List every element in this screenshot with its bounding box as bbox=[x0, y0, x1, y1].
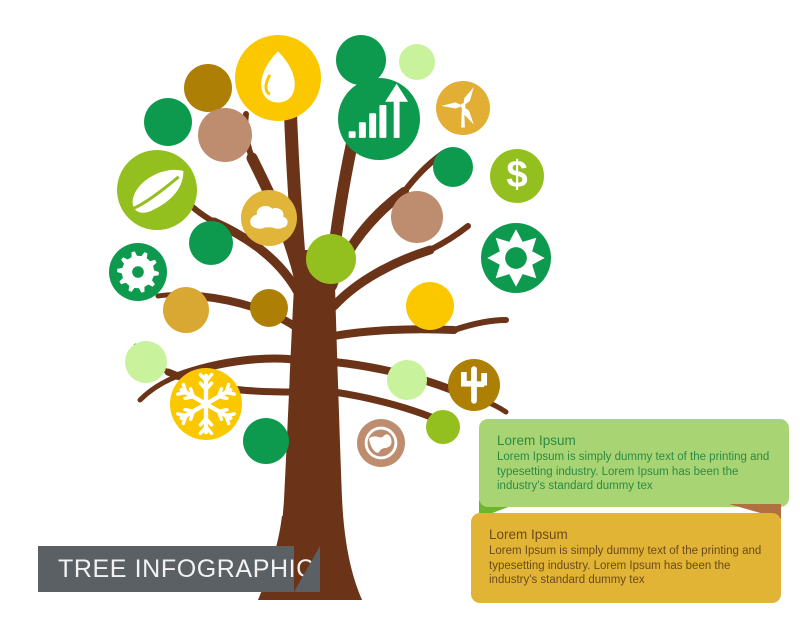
icon-water-drop[interactable] bbox=[235, 35, 321, 121]
circle-plain-green-mid bbox=[189, 221, 233, 265]
circle-plain-olive-2 bbox=[426, 410, 460, 444]
callout-green[interactable]: Lorem Ipsum Lorem Ipsum is simply dummy … bbox=[479, 419, 789, 507]
callout-green-body: Lorem Ipsum is simply dummy text of the … bbox=[497, 450, 771, 494]
circle-plain-light-green-2 bbox=[399, 44, 435, 80]
circle-plain-olive bbox=[306, 234, 356, 284]
title-banner: TREE INFOGRAPHIC bbox=[38, 546, 294, 592]
circle-plain-green-low bbox=[243, 418, 289, 464]
icon-globe[interactable] bbox=[357, 419, 405, 467]
circle-plain-tan bbox=[198, 108, 252, 162]
icon-cactus[interactable] bbox=[448, 359, 500, 411]
circle-plain-dark-gold-2 bbox=[250, 289, 288, 327]
circle-plain-green-top bbox=[336, 35, 386, 85]
icon-sun[interactable] bbox=[481, 223, 551, 293]
svg-text:$: $ bbox=[506, 153, 527, 196]
callout-yellow-body: Lorem Ipsum is simply dummy text of the … bbox=[489, 544, 763, 588]
sun-icon bbox=[487, 229, 544, 286]
callout-yellow-title: Lorem Ipsum bbox=[489, 526, 763, 543]
icon-snowflake[interactable] bbox=[170, 368, 242, 440]
circle-plain-tan-2 bbox=[391, 191, 443, 243]
icon-cloud[interactable] bbox=[241, 190, 297, 246]
circle-plain-green-small bbox=[144, 98, 192, 146]
icon-wind-turbine[interactable] bbox=[436, 81, 490, 135]
page-title: TREE INFOGRAPHIC bbox=[38, 555, 315, 584]
circle-plain-green-ctr bbox=[433, 147, 473, 187]
circle-plain-gold bbox=[163, 287, 209, 333]
callout-yellow[interactable]: Lorem Ipsum Lorem Ipsum is simply dummy … bbox=[471, 513, 781, 603]
icon-growth-chart[interactable] bbox=[338, 78, 420, 160]
banner-slant-decoration bbox=[294, 546, 320, 592]
dollar-icon: $ bbox=[506, 153, 527, 196]
icon-dollar[interactable]: $ bbox=[490, 149, 544, 203]
icon-leaf[interactable] bbox=[117, 150, 197, 230]
infographic-canvas: $ TREE INFOGRAPHIC Lorem Ipsum Lorem Ips… bbox=[0, 0, 800, 623]
circle-plain-yellow bbox=[406, 282, 454, 330]
icon-gear[interactable] bbox=[109, 243, 167, 301]
circle-plain-light-green bbox=[125, 341, 167, 383]
circle-plain-dark-gold bbox=[184, 64, 232, 112]
circle-plain-light-green-3 bbox=[387, 360, 427, 400]
callout-green-title: Lorem Ipsum bbox=[497, 432, 771, 449]
